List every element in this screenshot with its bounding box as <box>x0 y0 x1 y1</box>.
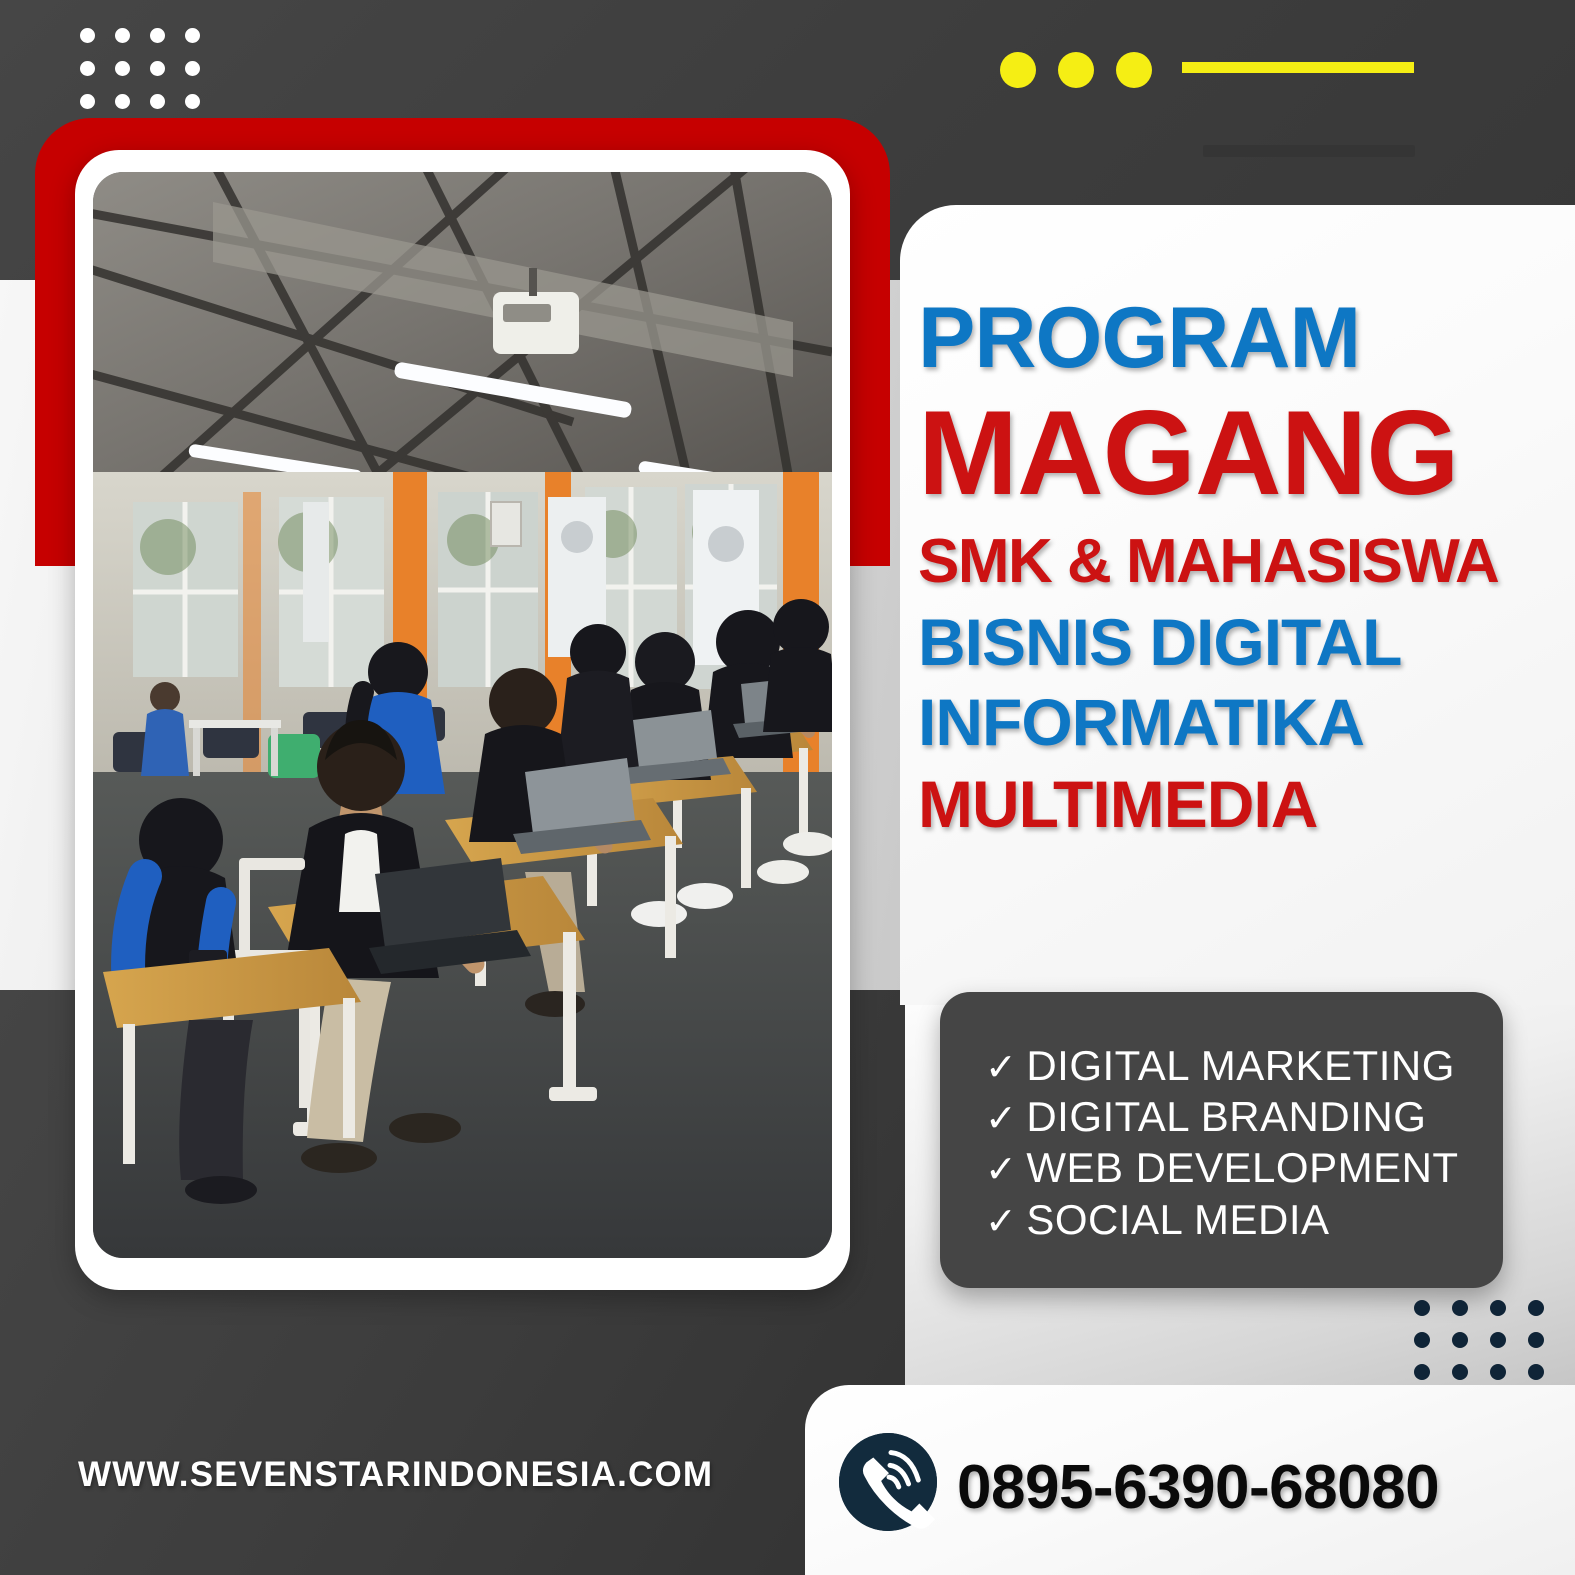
photo-frame <box>75 150 850 1290</box>
feature-item: ✓ DIGITAL BRANDING <box>985 1091 1505 1142</box>
headline-line-program: PROGRAM <box>918 295 1558 381</box>
headline-line-informatika: INFORMATIKA <box>918 689 1558 755</box>
faint-accent-bar <box>1203 145 1415 157</box>
check-icon: ✓ <box>985 1100 1017 1138</box>
yellow-rule-divider <box>1182 62 1414 73</box>
website-url[interactable]: WWW.SEVENSTARINDONESIA.COM <box>78 1455 713 1495</box>
headline-line-multimedia: MULTIMEDIA <box>918 771 1558 837</box>
phone-number[interactable]: 0895-6390-68080 <box>957 1452 1439 1523</box>
feature-item: ✓ SOCIAL MEDIA <box>985 1194 1505 1245</box>
feature-label: SOCIAL MEDIA <box>1026 1194 1329 1245</box>
headline-stack: PROGRAM MAGANG SMK & MAHASISWA BISNIS DI… <box>918 295 1558 837</box>
dot-grid-icon-top-left <box>80 28 200 109</box>
feature-item: ✓ DIGITAL MARKETING <box>985 1040 1505 1091</box>
feature-label: WEB DEVELOPMENT <box>1026 1142 1458 1193</box>
feature-label: DIGITAL MARKETING <box>1026 1040 1455 1091</box>
headline-line-bisnis-digital: BISNIS DIGITAL <box>918 609 1558 675</box>
dot-grid-icon-bottom-right <box>1414 1300 1544 1380</box>
feature-item: ✓ WEB DEVELOPMENT <box>985 1142 1505 1193</box>
poster-canvas: PROGRAM MAGANG SMK & MAHASISWA BISNIS DI… <box>0 0 1575 1575</box>
check-icon: ✓ <box>985 1203 1017 1241</box>
yellow-dots-icon <box>1000 52 1152 88</box>
headline-line-smk-mahasiswa: SMK & MAHASISWA <box>918 531 1558 593</box>
features-list: ✓ DIGITAL MARKETING ✓ DIGITAL BRANDING ✓… <box>985 1040 1505 1245</box>
feature-label: DIGITAL BRANDING <box>1026 1091 1426 1142</box>
check-icon: ✓ <box>985 1151 1017 1189</box>
phone-call-icon <box>839 1433 937 1531</box>
classroom-photo <box>93 172 832 1258</box>
check-icon: ✓ <box>985 1049 1017 1087</box>
headline-line-magang: MAGANG <box>918 393 1558 513</box>
